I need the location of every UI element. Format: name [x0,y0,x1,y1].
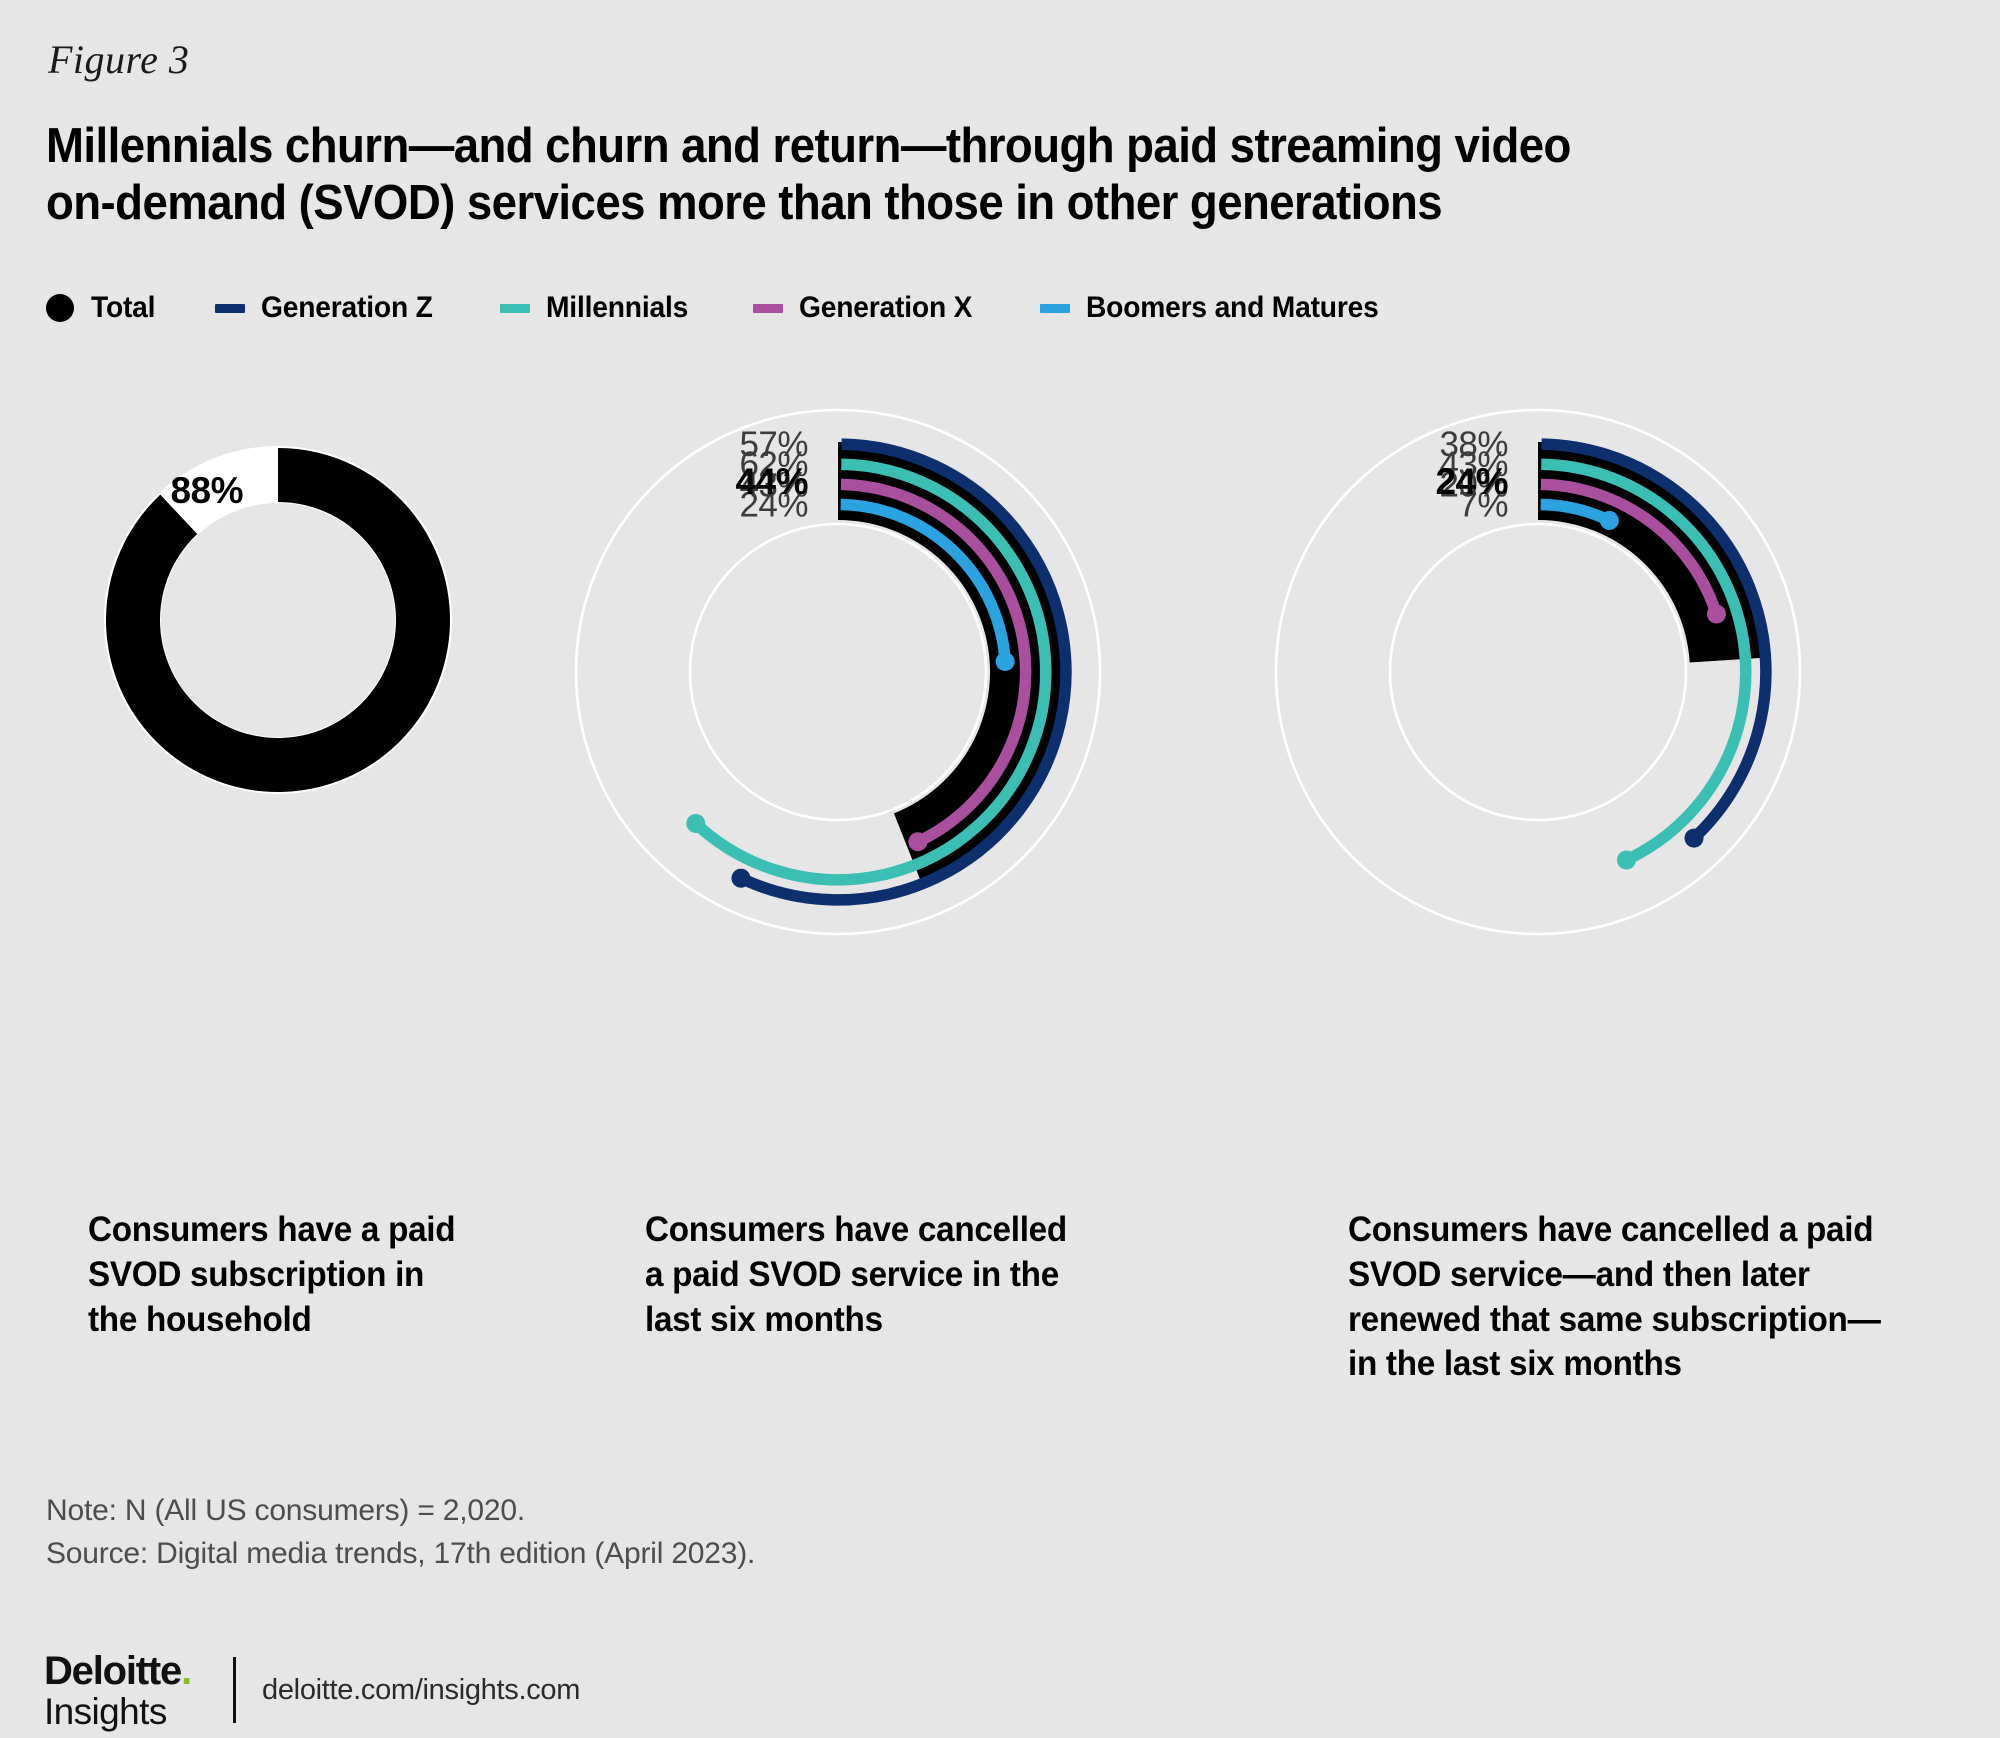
logo-green-dot-icon: . [181,1649,191,1693]
legend-bar-icon-generation-x [753,304,783,313]
footnote-source: Source: Digital media trends, 17th editi… [46,1533,755,1576]
legend-item-millennials[interactable]: Millennials [500,291,697,325]
panel-2-caption-line-2: a paid SVOD service in the [645,1253,1092,1298]
panel-2-caption-line-1: Consumers have cancelled [645,1208,1092,1253]
panel-3-caption-line-3: renewed that same subscription— [1348,1298,1899,1343]
arc-endpoint-millennials [1617,850,1636,869]
donut-panel-2: 57%62%43%24%44% [576,410,1100,934]
legend-label-millennials: Millennials [546,291,688,325]
panel-1-caption-line-3: the household [88,1298,497,1343]
donut-panel-3: 38%43%20%7%24% [1276,410,1800,934]
footnote: Note: N (All US consumers) = 2,020. Sour… [46,1490,755,1575]
logo-divider [233,1657,236,1723]
panel-1-caption-line-1: Consumers have a paid [88,1208,497,1253]
logo-url: deloitte.com/insights.com [262,1674,580,1707]
arc-endpoint-generation-z [1685,829,1704,848]
legend-dot-icon [46,294,74,322]
footnote-note: Note: N (All US consumers) = 2,020. [46,1490,755,1533]
donut-charts-svg: 88%57%62%43%24%44%38%43%20%7%24% [0,400,2000,1180]
figure-label: Figure 3 [48,36,189,83]
arc-endpoint-boomers-and-matures [1600,511,1619,530]
arc-endpoint-millennials [686,814,705,833]
legend-label-generation-z: Generation Z [261,291,433,325]
legend-bar-icon-boomers-and-matures [1040,304,1070,313]
legend-bar-icon-millennials [500,304,530,313]
logo-subbrand: Insights [44,1693,191,1730]
panel-track-ring-inner [1390,524,1686,820]
panel-1-caption-line-2: SVOD subscription in [88,1253,497,1298]
arc-endpoint-generation-x [908,832,927,851]
logo-wordmark: Deloitte. Insights [44,1651,191,1730]
chart-legend: Total Generation Z Millennials Generatio… [46,288,1453,328]
charts-area: 88%57%62%43%24%44%38%43%20%7%24% [0,400,2000,1180]
legend-item-generation-x[interactable]: Generation X [753,291,983,325]
title-line-1: Millennials churn—and churn and return—t… [46,118,1785,175]
arc-endpoint-generation-z [731,869,750,888]
value-label-total: 88% [170,470,243,511]
legend-item-total[interactable]: Total [46,291,159,325]
logo-brand-text: Deloitte [44,1649,181,1693]
legend-item-generation-z[interactable]: Generation Z [215,291,444,325]
panel-2-caption: Consumers have cancelled a paid SVOD ser… [645,1208,1115,1342]
legend-item-boomers-and-matures[interactable]: Boomers and Matures [1040,291,1397,325]
panel-3-caption-line-1: Consumers have cancelled a paid [1348,1208,1899,1253]
legend-bar-icon-generation-z [215,304,245,313]
donut-panel-1: 88% [106,448,450,792]
logo-brand: Deloitte. [44,1651,191,1691]
deloitte-insights-logo[interactable]: Deloitte. Insights deloitte.com/insights… [44,1652,580,1728]
panel-3-caption-line-2: SVOD service—and then later [1348,1253,1899,1298]
legend-label-total: Total [91,291,155,325]
value-label-total: 24% [1435,461,1508,502]
panel-track-ring-inner [690,524,986,820]
panel-3-caption-line-4: in the last six months [1348,1342,1899,1387]
title-line-2: on-demand (SVOD) services more than thos… [46,175,1785,232]
arc-endpoint-boomers-and-matures [996,652,1015,671]
figure-page: Figure 3 Millennials churn—and churn and… [0,0,2000,1738]
panel-3-caption: Consumers have cancelled a paid SVOD ser… [1348,1208,1928,1387]
page-title: Millennials churn—and churn and return—t… [46,118,1785,233]
legend-label-generation-x: Generation X [799,291,972,325]
value-label-total: 44% [735,461,808,502]
panel-1-caption: Consumers have a paid SVOD subscription … [88,1208,518,1342]
panel-2-caption-line-3: last six months [645,1298,1092,1343]
arc-endpoint-generation-x [1707,605,1726,624]
legend-label-boomers-and-matures: Boomers and Matures [1086,291,1379,325]
